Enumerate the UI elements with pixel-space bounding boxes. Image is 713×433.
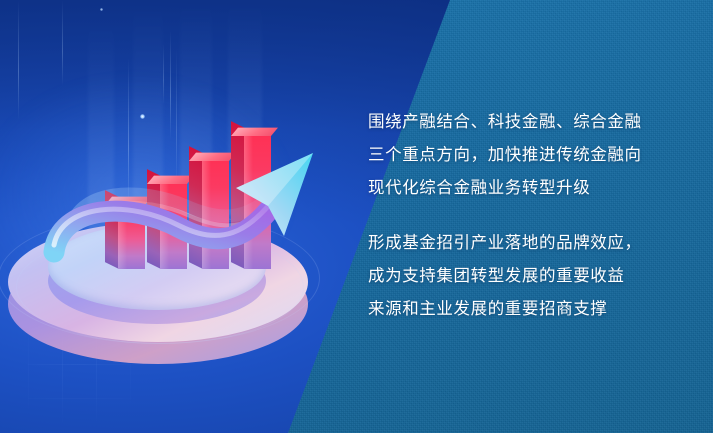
promotional-banner: 围绕产融结合、科技金融、综合金融 三个重点方向，加快推进传统金融向 现代化综合金…: [0, 0, 713, 433]
paragraph-2: 形成基金招引产业落地的品牌效应， 成为支持集团转型发展的重要收益 来源和主业发展…: [368, 227, 688, 326]
message-text-block: 围绕产融结合、科技金融、综合金融 三个重点方向，加快推进传统金融向 现代化综合金…: [368, 106, 688, 326]
paragraph-1: 围绕产融结合、科技金融、综合金融 三个重点方向，加快推进传统金融向 现代化综合金…: [368, 106, 688, 205]
growth-chart-illustration: [0, 0, 350, 433]
growth-arrow: [0, 0, 350, 433]
